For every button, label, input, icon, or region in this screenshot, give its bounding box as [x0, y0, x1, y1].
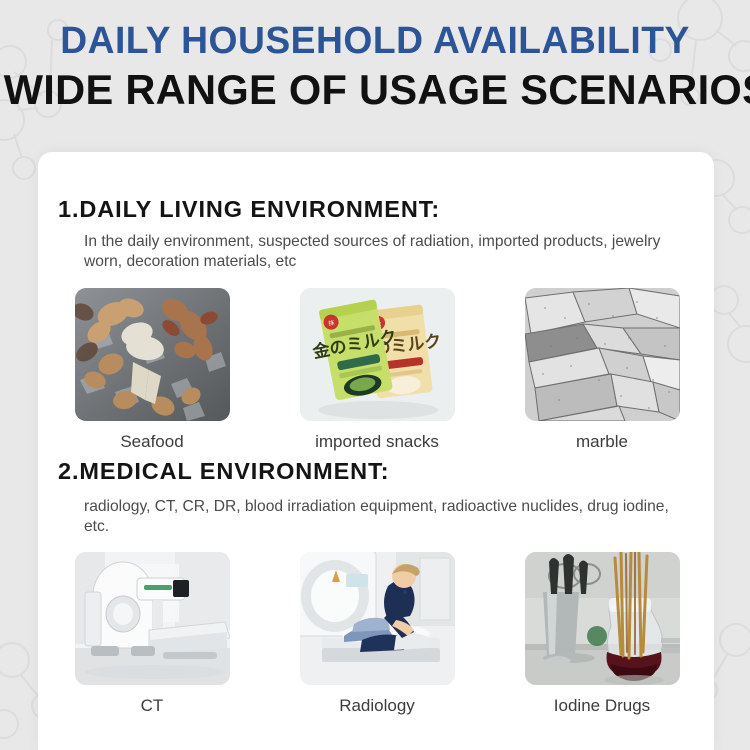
section-1-image-row: Seafood 金 金のミルク: [72, 288, 682, 452]
section-1-heading: 1.DAILY LIVING ENVIRONMENT:: [58, 196, 440, 223]
caption-imported-snacks: imported snacks: [315, 432, 439, 452]
page-title-line-2: WIDE RANGE OF USAGE SCENARIOS: [4, 68, 747, 112]
content-card: 1.DAILY LIVING ENVIRONMENT: In the daily…: [38, 152, 714, 750]
page-header: DAILY HOUSEHOLD AVAILABILITY WIDE RANGE …: [0, 0, 750, 150]
imported-snacks-photo[interactable]: 金 金のミルク 抹 金の: [300, 288, 455, 421]
item-imported-snacks[interactable]: 金 金のミルク 抹 金の: [297, 288, 457, 452]
page-title-line-1: DAILY HOUSEHOLD AVAILABILITY: [8, 22, 743, 62]
caption-seafood: Seafood: [120, 432, 183, 452]
item-radiology[interactable]: Radiology: [297, 552, 457, 716]
section-1-body: In the daily environment, suspected sour…: [84, 232, 696, 273]
caption-iodine-drugs: Iodine Drugs: [554, 696, 650, 716]
caption-ct: CT: [141, 696, 164, 716]
caption-marble: marble: [576, 432, 628, 452]
item-ct[interactable]: CT: [72, 552, 232, 716]
iodine-drugs-photo[interactable]: [525, 552, 680, 685]
item-iodine-drugs[interactable]: Iodine Drugs: [522, 552, 682, 716]
seafood-photo[interactable]: [75, 288, 230, 421]
section-2-heading: 2.MEDICAL ENVIRONMENT:: [58, 458, 389, 485]
caption-radiology: Radiology: [339, 696, 415, 716]
section-2-image-row: CT: [72, 552, 682, 716]
ct-scanner-photo[interactable]: [75, 552, 230, 685]
item-seafood[interactable]: Seafood: [72, 288, 232, 452]
section-2-body: radiology, CT, CR, DR, blood irradiation…: [84, 497, 684, 538]
marble-photo[interactable]: [525, 288, 680, 421]
radiology-photo[interactable]: [300, 552, 455, 685]
item-marble[interactable]: marble: [522, 288, 682, 452]
